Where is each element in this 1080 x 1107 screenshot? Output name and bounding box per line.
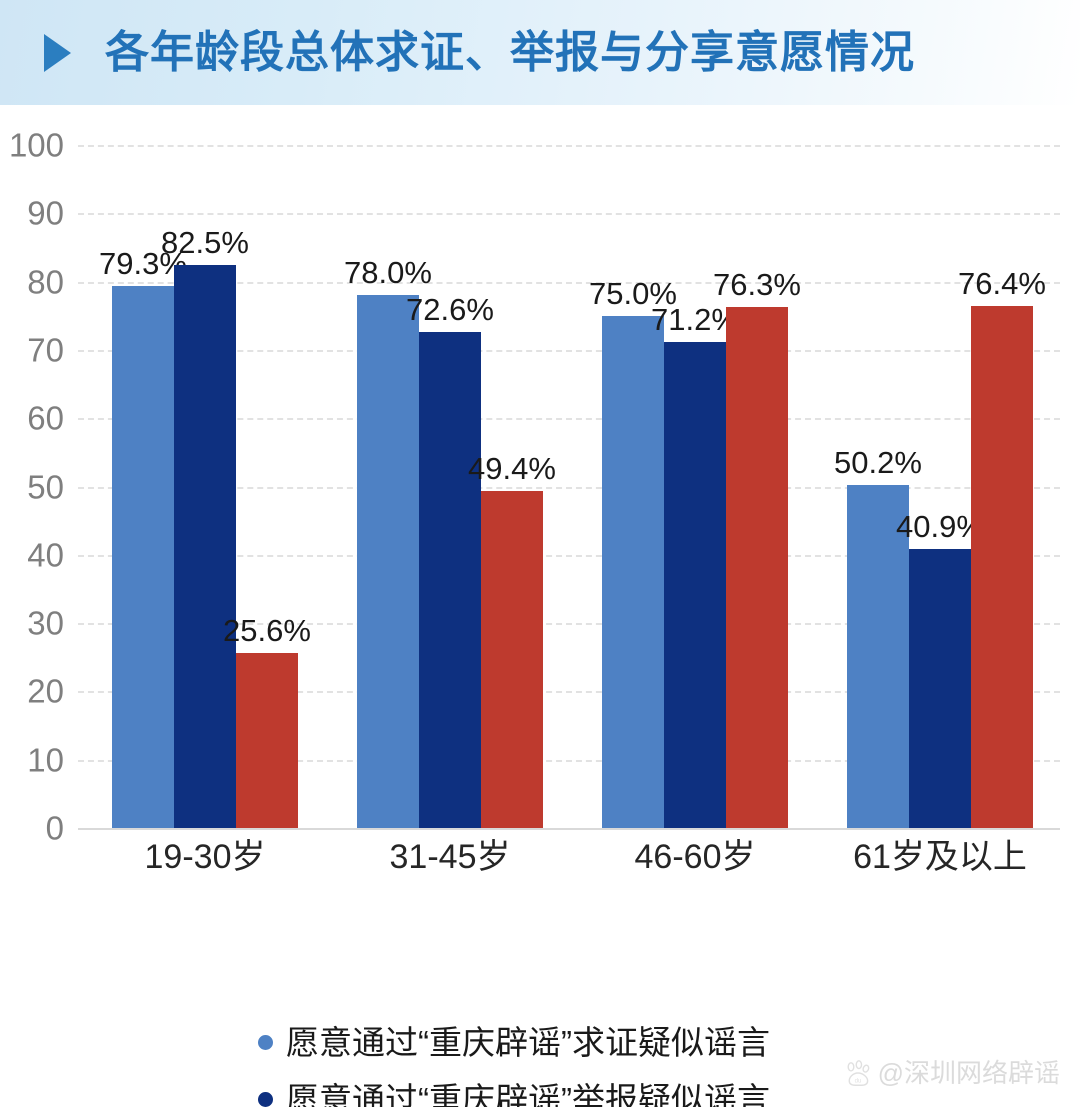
legend-color-swatch-icon — [258, 1035, 273, 1050]
triangle-right-icon — [44, 34, 71, 72]
header-banner: 各年龄段总体求证、举报与分享意愿情况 — [0, 0, 1080, 105]
y-axis-tick-label: 50 — [0, 470, 64, 503]
gridline — [78, 145, 1060, 147]
svg-text:du: du — [854, 1078, 861, 1085]
bar-value-label: 82.5% — [161, 227, 249, 258]
bar-chart: 79.3%82.5%25.6%78.0%72.6%49.4%75.0%71.2%… — [0, 105, 1080, 1107]
bar — [971, 306, 1033, 828]
x-axis-category-label: 31-45岁 — [390, 840, 511, 874]
bar — [112, 286, 174, 828]
plot-area: 79.3%82.5%25.6%78.0%72.6%49.4%75.0%71.2%… — [78, 145, 1060, 828]
y-axis-tick-label: 30 — [0, 607, 64, 640]
bar — [909, 549, 971, 828]
bar — [236, 653, 298, 828]
gridline — [78, 213, 1060, 215]
legend-item[interactable]: 愿意通过“重庆辟谣”举报疑似谣言 — [258, 1075, 878, 1107]
chart-legend: 愿意通过“重庆辟谣”求证疑似谣言愿意通过“重庆辟谣”举报疑似谣言愿意分享辟谣内容… — [258, 1018, 878, 1107]
bar — [664, 342, 726, 828]
y-axis-tick-label: 60 — [0, 402, 64, 435]
page-title: 各年龄段总体求证、举报与分享意愿情况 — [105, 31, 915, 75]
y-axis-tick-label: 100 — [0, 129, 64, 162]
chart-page: 各年龄段总体求证、举报与分享意愿情况 79.3%82.5%25.6%78.0%7… — [0, 0, 1080, 1107]
bar-value-label: 78.0% — [344, 257, 432, 288]
legend-label: 愿意通过“重庆辟谣”举报疑似谣言 — [286, 1083, 770, 1107]
bar — [174, 265, 236, 828]
bar-value-label: 76.4% — [958, 268, 1046, 299]
legend-item[interactable]: 愿意通过“重庆辟谣”求证疑似谣言 — [258, 1018, 878, 1066]
bar — [726, 307, 788, 828]
bar-value-label: 25.6% — [223, 615, 311, 646]
bar-value-label: 76.3% — [713, 269, 801, 300]
bar — [481, 491, 543, 828]
x-axis-category-label: 61岁及以上 — [853, 840, 1027, 874]
x-axis-category-label: 19-30岁 — [145, 840, 266, 874]
gridline — [78, 828, 1060, 830]
watermark-text: @深圳网络辟谣 — [878, 1060, 1060, 1086]
legend-color-swatch-icon — [258, 1092, 273, 1107]
y-axis-tick-label: 70 — [0, 333, 64, 366]
bar — [357, 295, 419, 828]
watermark: du @深圳网络辟谣 — [844, 1059, 1060, 1087]
bar — [419, 332, 481, 828]
y-axis-tick-label: 10 — [0, 743, 64, 776]
bar-value-label: 49.4% — [468, 453, 556, 484]
y-axis-tick-label: 20 — [0, 675, 64, 708]
y-axis-tick-label: 40 — [0, 538, 64, 571]
bar-value-label: 72.6% — [406, 294, 494, 325]
legend-label: 愿意通过“重庆辟谣”求证疑似谣言 — [286, 1026, 770, 1059]
bar-value-label: 50.2% — [834, 447, 922, 478]
bar — [602, 316, 664, 828]
y-axis-tick-label: 80 — [0, 265, 64, 298]
baidu-paw-icon: du — [844, 1059, 872, 1087]
y-axis-tick-label: 90 — [0, 197, 64, 230]
y-axis-tick-label: 0 — [0, 812, 64, 845]
x-axis-category-label: 46-60岁 — [635, 840, 756, 874]
